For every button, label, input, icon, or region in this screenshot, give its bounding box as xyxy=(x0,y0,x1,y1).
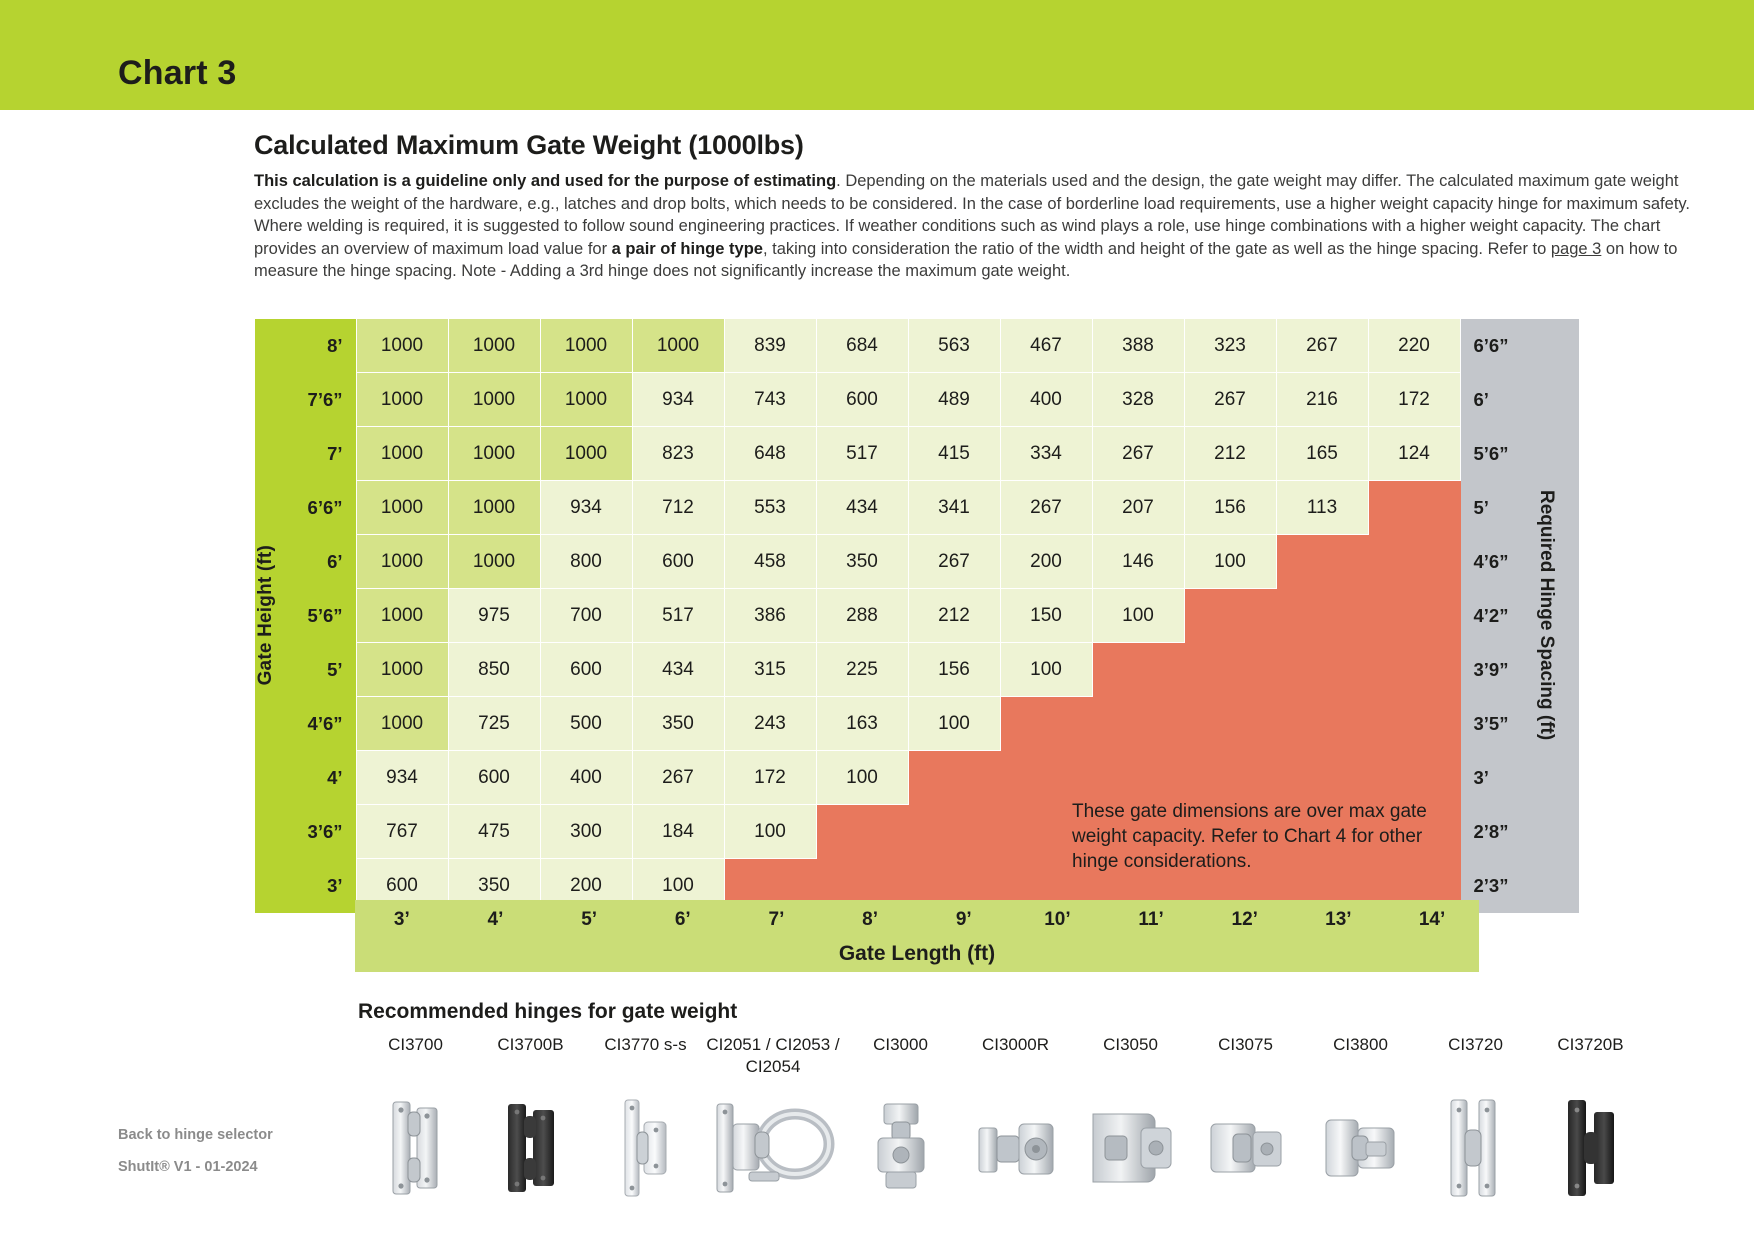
cell-weight-value: 341 xyxy=(908,481,1000,535)
cell-over-capacity xyxy=(1276,589,1368,643)
hinge-spacing-axis-label: Required Hinge Spacing (ft) xyxy=(1535,490,1557,740)
cell-weight-value: 458 xyxy=(724,535,816,589)
row-header-gate-height: 6’ xyxy=(281,535,356,589)
table-row: 7’6”100010001000934743600489400328267216… xyxy=(255,373,1579,427)
row-header-gate-height: 7’ xyxy=(281,427,356,481)
hinge-model-label: CI3000 xyxy=(843,1034,958,1082)
cell-over-capacity xyxy=(908,805,1000,859)
hinge-model-label: CI3075 xyxy=(1188,1034,1303,1082)
table-row: 7’10001000100082364851741533426721216512… xyxy=(255,427,1579,481)
hinge-product-icon xyxy=(958,1090,1073,1198)
cell-weight-value: 684 xyxy=(816,319,908,373)
cell-weight-value: 743 xyxy=(724,373,816,427)
hinge-item[interactable]: CI3800 xyxy=(1303,1034,1418,1198)
page-3-link[interactable]: page 3 xyxy=(1551,240,1601,258)
cell-weight-value: 400 xyxy=(540,751,632,805)
hinge-spacing-value: 6’6” xyxy=(1460,319,1535,373)
cell-weight-value: 267 xyxy=(1092,427,1184,481)
cell-weight-value: 415 xyxy=(908,427,1000,481)
hinge-spacing-value: 4’6” xyxy=(1460,535,1535,589)
cell-over-capacity xyxy=(816,805,908,859)
row-header-gate-height: 4’ xyxy=(281,751,356,805)
cell-over-capacity xyxy=(1276,643,1368,697)
cell-weight-value: 517 xyxy=(632,589,724,643)
cell-weight-value: 1000 xyxy=(448,319,540,373)
cell-weight-value: 934 xyxy=(356,751,448,805)
cell-weight-value: 220 xyxy=(1368,319,1460,373)
chart-title: Chart 3 xyxy=(118,54,237,93)
cell-weight-value: 1000 xyxy=(356,319,448,373)
cell-weight-value: 100 xyxy=(908,697,1000,751)
cell-weight-value: 172 xyxy=(1368,373,1460,427)
gate-length-axis: 3’4’5’6’7’8’9’10’11’12’13’14’ Gate Lengt… xyxy=(355,900,1479,972)
cell-weight-value: 1000 xyxy=(356,697,448,751)
cell-weight-value: 388 xyxy=(1092,319,1184,373)
cell-weight-value: 184 xyxy=(632,805,724,859)
cell-weight-value: 172 xyxy=(724,751,816,805)
cell-over-capacity xyxy=(1276,535,1368,589)
cell-weight-value: 156 xyxy=(908,643,1000,697)
table-row: 4’6”10007255003502431631003’5” xyxy=(255,697,1579,751)
cell-weight-value: 1000 xyxy=(356,427,448,481)
cell-weight-value: 475 xyxy=(448,805,540,859)
cell-weight-value: 712 xyxy=(632,481,724,535)
hinge-product-icon xyxy=(1188,1090,1303,1198)
hinge-product-icon xyxy=(588,1090,703,1198)
hinge-item[interactable]: CI3770 s-s xyxy=(588,1034,703,1198)
cell-weight-value: 124 xyxy=(1368,427,1460,481)
cell-weight-value: 489 xyxy=(908,373,1000,427)
cell-weight-value: 315 xyxy=(724,643,816,697)
cell-weight-value: 212 xyxy=(1184,427,1276,481)
cell-weight-value: 600 xyxy=(632,535,724,589)
hinge-model-label: CI3720B xyxy=(1533,1034,1648,1082)
cell-weight-value: 100 xyxy=(724,805,816,859)
hinge-spacing-axis: Required Hinge Spacing (ft) xyxy=(1535,319,1579,913)
cell-weight-value: 200 xyxy=(1000,535,1092,589)
hinge-item[interactable]: CI3720 xyxy=(1418,1034,1533,1198)
gate-length-tick: 12’ xyxy=(1198,909,1292,931)
cell-over-capacity xyxy=(1000,751,1092,805)
gate-length-tick: 6’ xyxy=(636,909,730,931)
cell-weight-value: 648 xyxy=(724,427,816,481)
recommended-hinges-section: Recommended hinges for gate weight CI370… xyxy=(358,1000,1648,1198)
hinge-model-label: CI3770 s-s xyxy=(588,1034,703,1082)
gate-length-tick: 11’ xyxy=(1104,909,1198,931)
cell-weight-value: 400 xyxy=(1000,373,1092,427)
cell-weight-value: 1000 xyxy=(356,535,448,589)
hinge-model-label: CI2051 / CI2053 / CI2054 xyxy=(703,1034,843,1082)
table-row: 5’6”10009757005173862882121501004’2” xyxy=(255,589,1579,643)
cell-weight-value: 1000 xyxy=(356,481,448,535)
cell-weight-value: 850 xyxy=(448,643,540,697)
cell-weight-value: 563 xyxy=(908,319,1000,373)
cell-over-capacity xyxy=(1184,589,1276,643)
cell-weight-value: 467 xyxy=(1000,319,1092,373)
table-row: 5’10008506004343152251561003’9” xyxy=(255,643,1579,697)
cell-weight-value: 300 xyxy=(540,805,632,859)
gate-length-tick: 9’ xyxy=(917,909,1011,931)
hinge-product-icon xyxy=(1418,1090,1533,1198)
row-header-gate-height: 7’6” xyxy=(281,373,356,427)
cell-over-capacity xyxy=(1184,697,1276,751)
hinge-item[interactable]: CI3720B xyxy=(1533,1034,1648,1198)
hinge-model-label: CI3700 xyxy=(358,1034,473,1082)
hinge-product-icon xyxy=(473,1090,588,1198)
cell-weight-value: 225 xyxy=(816,643,908,697)
cell-weight-value: 100 xyxy=(1000,643,1092,697)
hinge-product-icon xyxy=(1533,1090,1648,1198)
cell-weight-value: 267 xyxy=(632,751,724,805)
cell-weight-value: 113 xyxy=(1276,481,1368,535)
hinge-spacing-value: 5’ xyxy=(1460,481,1535,535)
hinge-item[interactable]: CI3075 xyxy=(1188,1034,1303,1198)
hinge-item[interactable]: CI2051 / CI2053 / CI2054 xyxy=(703,1034,843,1198)
gate-length-tick: 7’ xyxy=(730,909,824,931)
cell-over-capacity xyxy=(1368,697,1460,751)
hinge-spacing-value: 6’ xyxy=(1460,373,1535,427)
cell-weight-value: 934 xyxy=(540,481,632,535)
cell-weight-value: 288 xyxy=(816,589,908,643)
cell-over-capacity xyxy=(1092,697,1184,751)
page-footer: Back to hinge selector ShutIt® V1 - 01-2… xyxy=(118,1120,273,1184)
intro-section: Calculated Maximum Gate Weight (1000lbs)… xyxy=(254,130,1714,283)
hinge-product-icon xyxy=(843,1090,958,1198)
hinge-product-icon xyxy=(1303,1090,1418,1198)
cell-weight-value: 1000 xyxy=(448,535,540,589)
gate-height-axis-label: Gate Height (ft) xyxy=(255,545,277,685)
cell-weight-value: 975 xyxy=(448,589,540,643)
hinge-item[interactable]: CI3700B xyxy=(473,1034,588,1198)
table-row: 6’6”100010009347125534343412672071561135… xyxy=(255,481,1579,535)
version-label: ShutIt® V1 - 01-2024 xyxy=(118,1152,273,1184)
hinge-spacing-value: 3’5” xyxy=(1460,697,1535,751)
cell-weight-value: 100 xyxy=(1092,589,1184,643)
cell-over-capacity xyxy=(1368,589,1460,643)
hinge-model-label: CI3000R xyxy=(958,1034,1073,1082)
gate-length-axis-label: Gate Length (ft) xyxy=(355,942,1479,966)
over-capacity-note: These gate dimensions are over max gate … xyxy=(1072,800,1442,875)
cell-over-capacity xyxy=(1368,751,1460,805)
gate-length-ticks: 3’4’5’6’7’8’9’10’11’12’13’14’ xyxy=(355,900,1479,940)
hinge-spacing-value: 3’ xyxy=(1460,751,1535,805)
gate-height-axis: Gate Height (ft) xyxy=(255,319,281,913)
hinge-item[interactable]: CI3000R xyxy=(958,1034,1073,1198)
cell-over-capacity xyxy=(1000,697,1092,751)
hinge-spacing-value: 5’6” xyxy=(1460,427,1535,481)
cell-weight-value: 207 xyxy=(1092,481,1184,535)
cell-over-capacity xyxy=(1092,643,1184,697)
cell-weight-value: 434 xyxy=(816,481,908,535)
gate-length-tick: 13’ xyxy=(1292,909,1386,931)
hinge-spacing-value: 4’2” xyxy=(1460,589,1535,643)
back-to-hinge-selector-link[interactable]: Back to hinge selector xyxy=(118,1120,273,1152)
gate-length-tick: 10’ xyxy=(1011,909,1105,931)
cell-weight-value: 150 xyxy=(1000,589,1092,643)
cell-weight-value: 1000 xyxy=(540,427,632,481)
gate-length-tick: 14’ xyxy=(1385,909,1479,931)
cell-weight-value: 1000 xyxy=(356,589,448,643)
cell-weight-value: 1000 xyxy=(448,481,540,535)
table-row: 4’9346004002671721003’ xyxy=(255,751,1579,805)
cell-weight-value: 328 xyxy=(1092,373,1184,427)
cell-weight-value: 163 xyxy=(816,697,908,751)
cell-weight-value: 1000 xyxy=(448,427,540,481)
cell-weight-value: 800 xyxy=(540,535,632,589)
gate-length-tick: 3’ xyxy=(355,909,449,931)
cell-over-capacity xyxy=(1368,643,1460,697)
cell-weight-value: 386 xyxy=(724,589,816,643)
cell-weight-value: 600 xyxy=(816,373,908,427)
row-header-gate-height: 6’6” xyxy=(281,481,356,535)
cell-weight-value: 267 xyxy=(1276,319,1368,373)
hinge-product-icon xyxy=(358,1090,473,1198)
row-header-gate-height: 5’6” xyxy=(281,589,356,643)
cell-weight-value: 212 xyxy=(908,589,1000,643)
cell-weight-value: 553 xyxy=(724,481,816,535)
hinge-model-label: CI3720 xyxy=(1418,1034,1533,1082)
cell-weight-value: 1000 xyxy=(632,319,724,373)
cell-weight-value: 165 xyxy=(1276,427,1368,481)
cell-weight-value: 934 xyxy=(632,373,724,427)
recommended-hinges-heading: Recommended hinges for gate weight xyxy=(358,1000,1648,1024)
cell-weight-value: 323 xyxy=(1184,319,1276,373)
page-banner: Chart 3 xyxy=(0,0,1754,110)
cell-weight-value: 100 xyxy=(816,751,908,805)
cell-over-capacity xyxy=(1368,481,1460,535)
paragraph-bold-lead: This calculation is a guideline only and… xyxy=(254,172,836,190)
cell-weight-value: 267 xyxy=(1184,373,1276,427)
row-header-gate-height: 3’ xyxy=(281,859,356,913)
hinge-item[interactable]: CI3050 xyxy=(1073,1034,1188,1198)
hinge-list: CI3700CI3700BCI3770 s-sCI2051 / CI2053 /… xyxy=(358,1034,1648,1198)
intro-paragraph: This calculation is a guideline only and… xyxy=(254,170,1714,283)
cell-weight-value: 823 xyxy=(632,427,724,481)
cell-weight-value: 500 xyxy=(540,697,632,751)
hinge-item[interactable]: CI3000 xyxy=(843,1034,958,1198)
cell-weight-value: 600 xyxy=(540,643,632,697)
cell-weight-value: 267 xyxy=(1000,481,1092,535)
cell-over-capacity xyxy=(1092,751,1184,805)
hinge-product-icon xyxy=(1073,1090,1188,1198)
cell-over-capacity xyxy=(1184,751,1276,805)
row-header-gate-height: 8’ xyxy=(281,319,356,373)
cell-weight-value: 600 xyxy=(448,751,540,805)
cell-weight-value: 243 xyxy=(724,697,816,751)
cell-weight-value: 1000 xyxy=(356,643,448,697)
gate-length-tick: 5’ xyxy=(542,909,636,931)
cell-weight-value: 146 xyxy=(1092,535,1184,589)
row-header-gate-height: 3’6” xyxy=(281,805,356,859)
cell-over-capacity xyxy=(1276,751,1368,805)
cell-weight-value: 700 xyxy=(540,589,632,643)
cell-over-capacity xyxy=(1368,535,1460,589)
gate-length-tick: 8’ xyxy=(823,909,917,931)
hinge-model-label: CI3700B xyxy=(473,1034,588,1082)
cell-weight-value: 350 xyxy=(816,535,908,589)
cell-weight-value: 1000 xyxy=(356,373,448,427)
hinge-spacing-value: 2’8” xyxy=(1460,805,1535,859)
cell-weight-value: 1000 xyxy=(540,319,632,373)
cell-weight-value: 216 xyxy=(1276,373,1368,427)
hinge-model-label: CI3050 xyxy=(1073,1034,1188,1082)
hinge-model-label: CI3800 xyxy=(1303,1034,1418,1082)
row-header-gate-height: 4’6” xyxy=(281,697,356,751)
cell-weight-value: 267 xyxy=(908,535,1000,589)
table-row: 6’100010008006004583502672001461004’6” xyxy=(255,535,1579,589)
cell-weight-value: 725 xyxy=(448,697,540,751)
cell-weight-value: 517 xyxy=(816,427,908,481)
paragraph-bold-mid: a pair of hinge type xyxy=(612,240,763,258)
table-row: Gate Height (ft)8’1000100010001000839684… xyxy=(255,319,1579,373)
cell-weight-value: 1000 xyxy=(448,373,540,427)
cell-weight-value: 100 xyxy=(1184,535,1276,589)
page-title: Calculated Maximum Gate Weight (1000lbs) xyxy=(254,130,1714,161)
cell-weight-value: 350 xyxy=(632,697,724,751)
cell-over-capacity xyxy=(1276,697,1368,751)
cell-weight-value: 156 xyxy=(1184,481,1276,535)
hinge-item[interactable]: CI3700 xyxy=(358,1034,473,1198)
cell-weight-value: 767 xyxy=(356,805,448,859)
cell-weight-value: 1000 xyxy=(540,373,632,427)
cell-weight-value: 434 xyxy=(632,643,724,697)
cell-weight-value: 839 xyxy=(724,319,816,373)
cell-over-capacity xyxy=(1184,643,1276,697)
row-header-gate-height: 5’ xyxy=(281,643,356,697)
gate-length-tick: 4’ xyxy=(449,909,543,931)
cell-over-capacity xyxy=(908,751,1000,805)
paragraph-part-2: , taking into consideration the ratio of… xyxy=(763,240,1551,258)
hinge-spacing-value: 3’9” xyxy=(1460,643,1535,697)
hinge-product-icon xyxy=(703,1090,843,1198)
cell-weight-value: 334 xyxy=(1000,427,1092,481)
